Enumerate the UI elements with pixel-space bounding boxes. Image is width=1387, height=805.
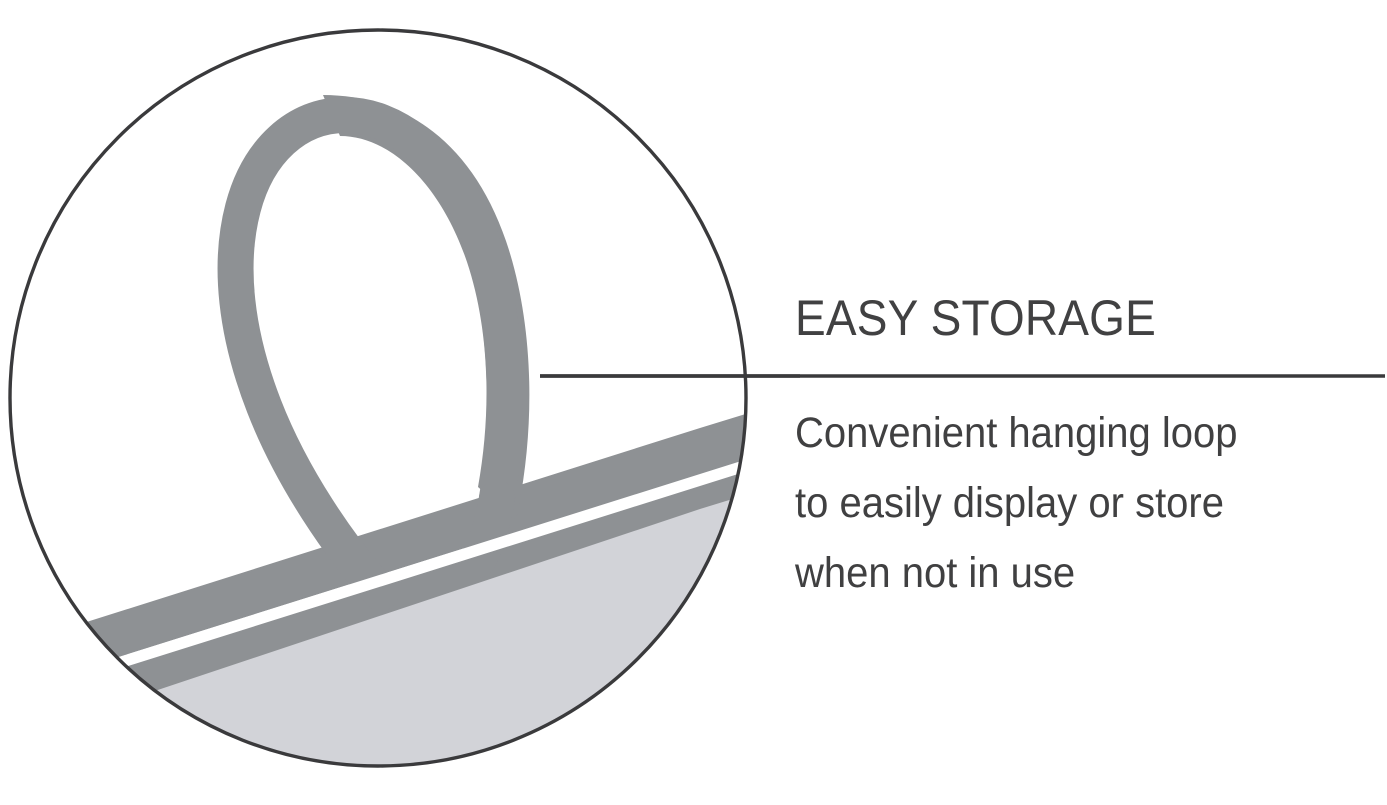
feature-callout-graphic: EASY STORAGE Convenient hanging loop to … [0, 0, 1387, 805]
callout-description-line-3: when not in use [795, 538, 1353, 608]
callout-description-line-2: to easily display or store [795, 468, 1353, 538]
easy-storage-illustration [0, 0, 800, 805]
page-title: EASY STORAGE [795, 292, 1156, 345]
callout-description: Convenient hanging loop to easily displa… [795, 398, 1353, 608]
callout-description-line-1: Convenient hanging loop [795, 398, 1353, 468]
